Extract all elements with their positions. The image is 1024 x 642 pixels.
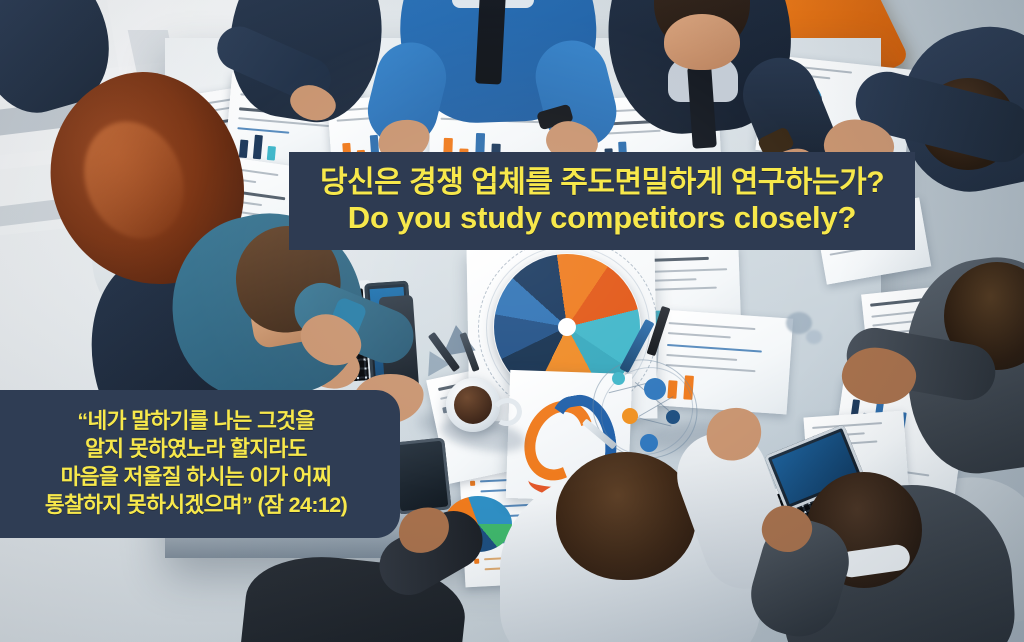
quote-line-1: “네가 말하기를 나는 그것을 <box>77 408 314 436</box>
coffee-liquid <box>454 386 492 424</box>
head <box>556 452 696 580</box>
quote-line-2: 알지 못하였노라 할지라도 <box>85 436 307 464</box>
network-node <box>622 408 638 424</box>
title-korean: 당신은 경쟁 업체를 주도면밀하게 연구하는가? <box>320 166 884 199</box>
background-illustration <box>0 0 1024 642</box>
title-banner: 당신은 경쟁 업체를 주도면밀하게 연구하는가? Do you study co… <box>289 152 915 250</box>
network-node <box>640 434 658 452</box>
face <box>664 14 740 70</box>
pie-chart-center <box>558 318 576 336</box>
scripture-quote-box: “네가 말하기를 나는 그것을 알지 못하였노라 할지라도 마음을 저울질 하시… <box>0 390 400 538</box>
quote-line-4: 통찰하지 못하시겠으며” (잠 24:12) <box>45 492 347 520</box>
network-node <box>666 410 680 424</box>
slide-canvas: 당신은 경쟁 업체를 주도면밀하게 연구하는가? Do you study co… <box>0 0 1024 642</box>
network-node <box>644 378 666 400</box>
network-node <box>612 372 625 385</box>
quote-line-3: 마음을 저울질 하시는 이가 어찌 <box>61 464 332 492</box>
desk-object <box>806 330 822 344</box>
title-english: Do you study competitors closely? <box>348 201 856 235</box>
